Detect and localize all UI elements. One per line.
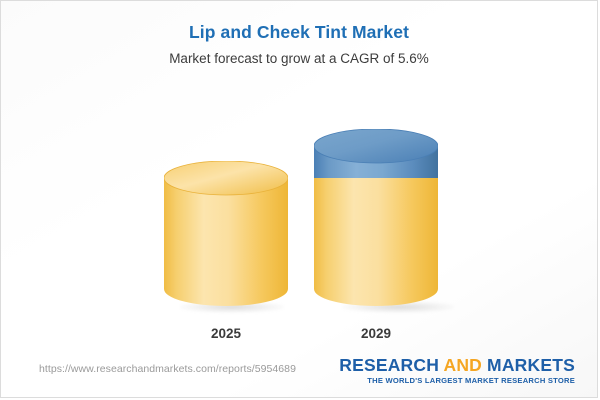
report-url[interactable]: https://www.researchandmarkets.com/repor…	[39, 363, 296, 375]
chart-plot-area: USD 1.69 Billion	[1, 1, 598, 357]
logo-word-research: RESEARCH	[339, 355, 443, 375]
bar-category-label: 2025	[211, 326, 241, 341]
brand-logo[interactable]: RESEARCH AND MARKETS THE WORLD'S LARGEST…	[339, 355, 575, 386]
cylinder-2029[interactable]	[314, 129, 438, 306]
logo-word-and: AND	[443, 355, 482, 375]
infographic-card: Lip and Cheek Tint Market Market forecas…	[0, 0, 598, 398]
logo-wordmark: RESEARCH AND MARKETS	[339, 355, 575, 375]
bar-group: USD 1.69 Billion	[1, 1, 598, 357]
footer: https://www.researchandmarkets.com/repor…	[1, 355, 597, 389]
cylinder-2025[interactable]	[164, 161, 288, 306]
logo-tagline: THE WORLD'S LARGEST MARKET RESEARCH STOR…	[339, 375, 575, 386]
bar-category-label: 2029	[361, 326, 391, 341]
logo-word-markets: MARKETS	[482, 355, 575, 375]
